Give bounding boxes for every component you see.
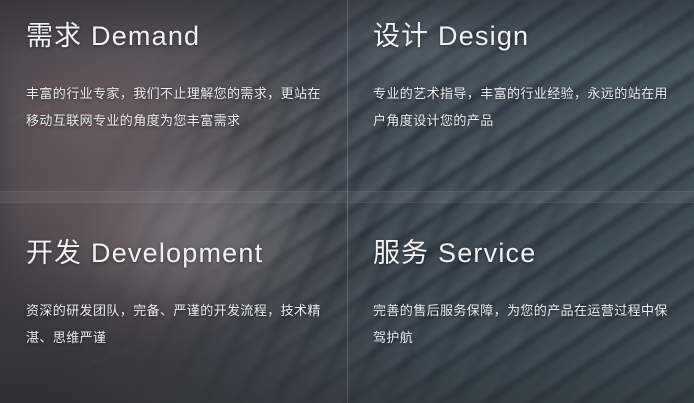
card-description-demand: 丰富的行业专家，我们不止理解您的需求，更站在移动互联网专业的角度为您丰富需求 [26, 80, 326, 134]
feature-card-development[interactable]: 开发Development 资深的研发团队，完备、严谨的开发流程，技术精湛、思维… [0, 197, 347, 403]
card-description-development: 资深的研发团队，完备、严谨的开发流程，技术精湛、思维严谨 [26, 297, 326, 351]
card-title-development: 开发Development [26, 239, 329, 269]
card-title-en: Service [438, 238, 536, 268]
card-description-design: 专业的艺术指导，丰富的行业经验，永远的站在用户角度设计您的产品 [373, 80, 673, 134]
card-title-demand: 需求Demand [26, 22, 329, 52]
card-title-zh: 设计 [373, 21, 429, 51]
card-title-zh: 开发 [26, 238, 82, 268]
card-description-service: 完善的售后服务保障，为您的产品在运营过程中保驾护航 [373, 297, 673, 351]
card-title-design: 设计Design [373, 22, 676, 52]
services-grid-section: zhanzhang zhanzhang zhanzhang zhanzhang … [0, 0, 694, 403]
card-title-en: Demand [91, 21, 200, 51]
feature-card-demand[interactable]: 需求Demand 丰富的行业专家，我们不止理解您的需求，更站在移动互联网专业的角… [0, 0, 347, 197]
feature-card-grid: 需求Demand 丰富的行业专家，我们不止理解您的需求，更站在移动互联网专业的角… [0, 0, 694, 403]
card-title-service: 服务Service [373, 239, 676, 269]
feature-card-design[interactable]: 设计Design 专业的艺术指导，丰富的行业经验，永远的站在用户角度设计您的产品 [347, 0, 694, 197]
card-title-en: Development [91, 238, 263, 268]
card-title-zh: 需求 [26, 21, 82, 51]
card-title-en: Design [438, 21, 529, 51]
feature-card-service[interactable]: 服务Service 完善的售后服务保障，为您的产品在运营过程中保驾护航 [347, 197, 694, 403]
card-title-zh: 服务 [373, 238, 429, 268]
